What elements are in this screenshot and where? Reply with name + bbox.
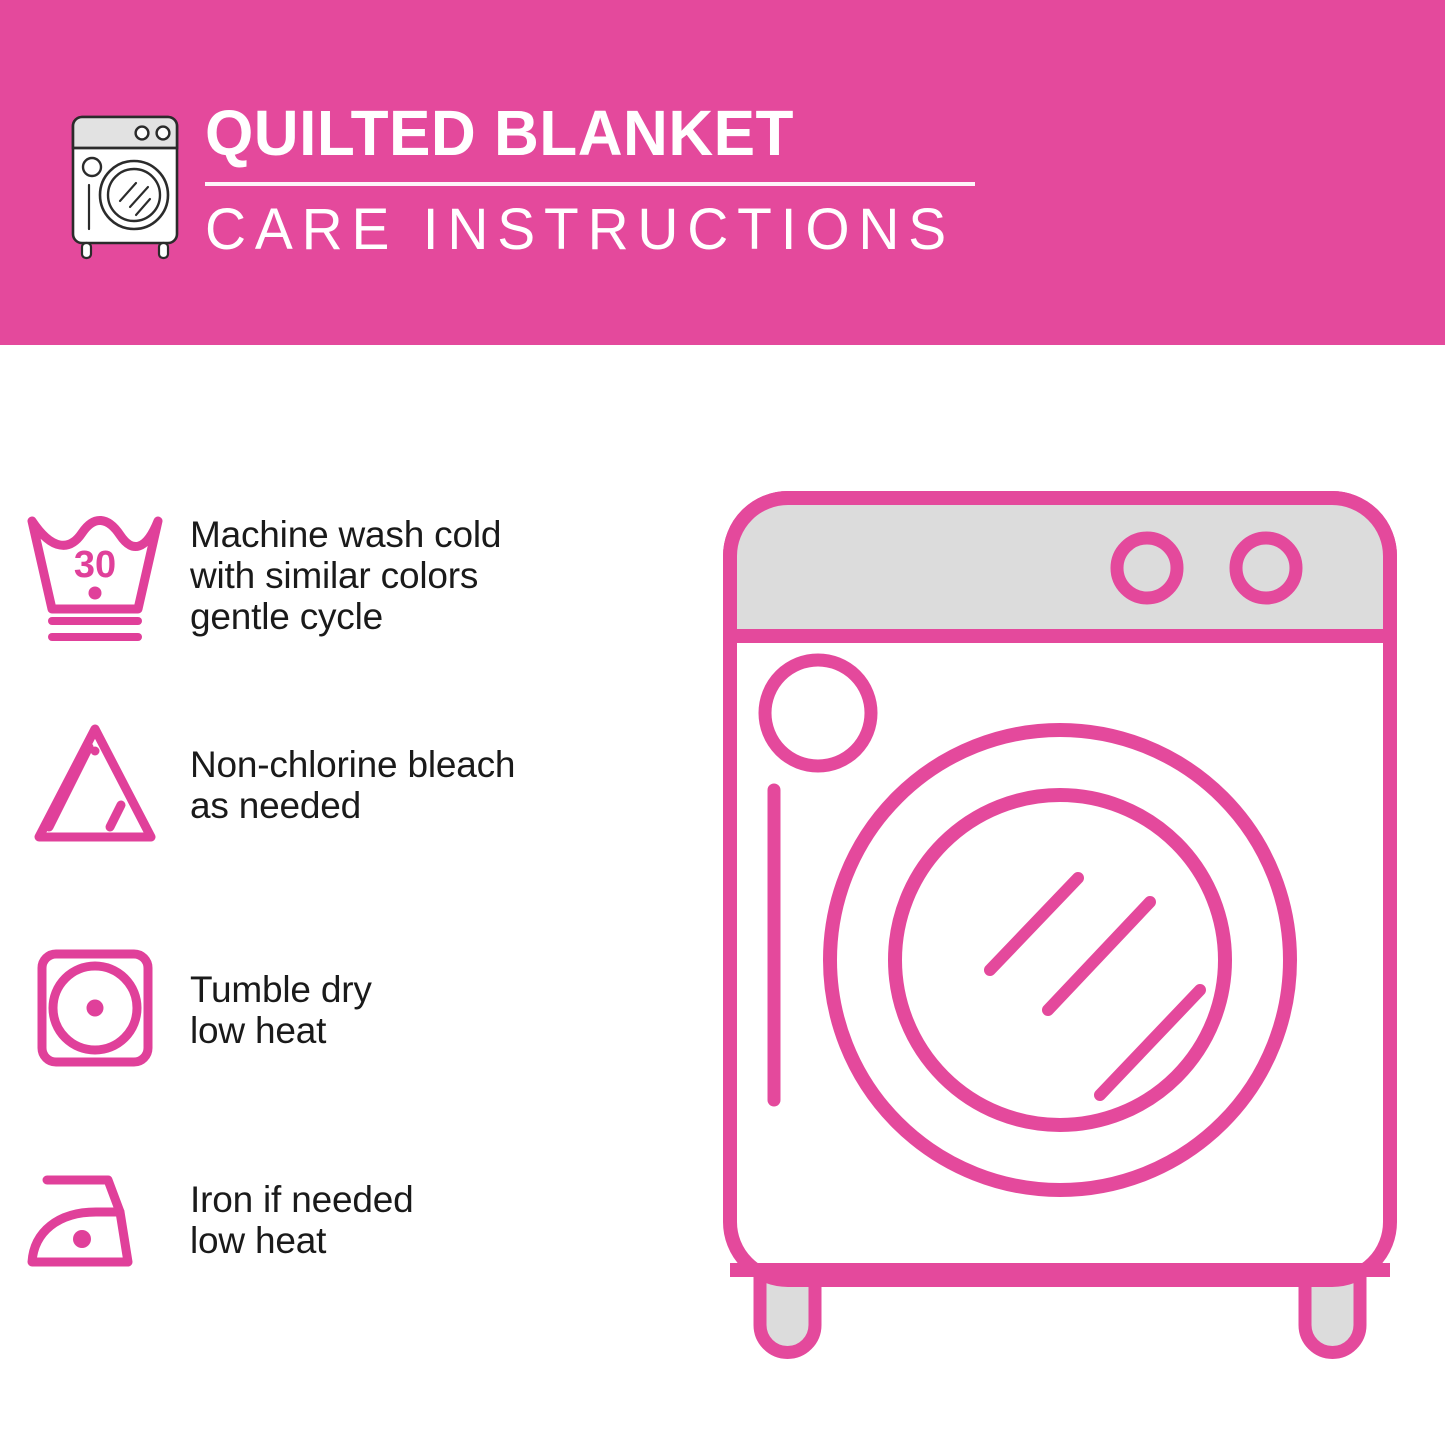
- care-label: Tumble dry low heat: [190, 969, 372, 1051]
- tumble-dry-low-icon: [0, 925, 190, 1095]
- header-text-block: QUILTED BLANKET CARE INSTRUCTIONS: [205, 98, 1005, 262]
- page-title: QUILTED BLANKET: [205, 98, 981, 168]
- non-chlorine-bleach-icon: [0, 700, 190, 870]
- machine-knob: [1236, 538, 1296, 598]
- care-row: Tumble dry low heat: [0, 925, 700, 1095]
- care-instruction-list: 30 Machine wash cold with similar colors…: [0, 345, 700, 1445]
- care-label: Machine wash cold with similar colors ge…: [190, 514, 501, 637]
- washing-machine-illustration: [700, 470, 1420, 1370]
- care-row: 30 Machine wash cold with similar colors…: [0, 490, 700, 660]
- care-instructions-page: QUILTED BLANKET CARE INSTRUCTIONS 30 Mac…: [0, 0, 1445, 1445]
- wash-temperature-label: 30: [74, 544, 116, 586]
- care-label: Iron if needed low heat: [190, 1179, 413, 1261]
- machine-door-inner: [895, 795, 1225, 1125]
- care-row: Non-chlorine bleach as needed: [0, 700, 700, 870]
- machine-indicator-light: [765, 660, 871, 766]
- care-row: Iron if needed low heat: [0, 1135, 700, 1305]
- washing-machine-icon: [58, 103, 198, 263]
- header-banner: QUILTED BLANKET CARE INSTRUCTIONS: [0, 0, 1445, 345]
- page-subtitle: CARE INSTRUCTIONS: [205, 198, 989, 262]
- care-label: Non-chlorine bleach as needed: [190, 744, 515, 826]
- title-divider: [205, 182, 975, 186]
- machine-wash-30-gentle-icon: 30: [0, 490, 190, 660]
- iron-low-heat-icon: [0, 1135, 190, 1305]
- machine-knob: [1117, 538, 1177, 598]
